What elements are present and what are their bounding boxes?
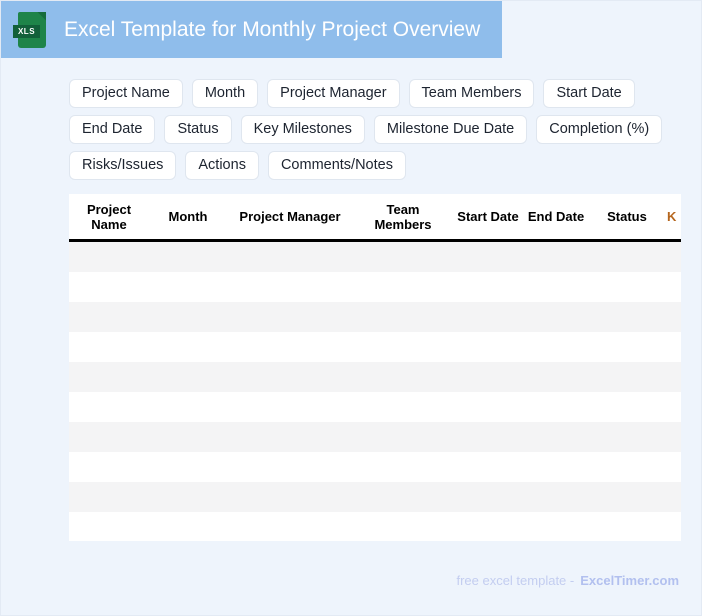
table-cell[interactable] [453, 392, 523, 422]
table-cell[interactable] [69, 302, 149, 332]
table-row[interactable] [69, 512, 681, 541]
table-cell[interactable] [149, 452, 227, 482]
table-cell[interactable] [523, 362, 589, 392]
table-row[interactable] [69, 272, 681, 302]
field-tag[interactable]: Start Date [543, 79, 634, 108]
table-cell[interactable] [353, 241, 453, 273]
field-tag[interactable]: Project Manager [267, 79, 399, 108]
table-cell[interactable] [523, 241, 589, 273]
footer-attribution: free excel template -ExcelTimer.com [456, 573, 679, 588]
table-cell[interactable] [69, 512, 149, 541]
table-cell[interactable] [149, 392, 227, 422]
table-cell[interactable] [149, 512, 227, 541]
table-cell[interactable] [589, 332, 665, 362]
table-cell[interactable] [227, 512, 353, 541]
table-row[interactable] [69, 482, 681, 512]
footer-brand-link[interactable]: ExcelTimer.com [580, 573, 679, 588]
table-cell[interactable] [453, 362, 523, 392]
table-cell[interactable] [149, 332, 227, 362]
table-cell[interactable] [353, 272, 453, 302]
table-cell[interactable] [589, 272, 665, 302]
table-cell[interactable] [665, 332, 681, 362]
page-root: { "header": { "title": "Excel Template f… [0, 0, 702, 616]
table-cell[interactable] [69, 452, 149, 482]
table-column-header[interactable]: Team Members [353, 194, 453, 241]
table-cell[interactable] [149, 362, 227, 392]
footer-lead-text: free excel template - [456, 573, 574, 588]
table-cell[interactable] [523, 332, 589, 362]
table-cell[interactable] [353, 422, 453, 452]
xls-file-icon: XLS [18, 12, 46, 48]
field-tag-list: Project NameMonthProject ManagerTeam Mem… [69, 79, 669, 180]
table-cell[interactable] [589, 302, 665, 332]
table-cell[interactable] [453, 272, 523, 302]
table-header: Project NameMonthProject ManagerTeam Mem… [69, 194, 681, 241]
table-cell[interactable] [665, 452, 681, 482]
table-header-row: Project NameMonthProject ManagerTeam Mem… [69, 194, 681, 241]
table-cell[interactable] [353, 512, 453, 541]
table-cell[interactable] [589, 422, 665, 452]
table-column-header[interactable]: Status [589, 194, 665, 241]
table-cell[interactable] [523, 482, 589, 512]
table-cell[interactable] [523, 392, 589, 422]
table-row[interactable] [69, 241, 681, 273]
table-cell[interactable] [69, 362, 149, 392]
table-cell[interactable] [453, 241, 523, 273]
table-cell[interactable] [589, 362, 665, 392]
table-cell[interactable] [665, 392, 681, 422]
table-cell[interactable] [227, 362, 353, 392]
table-row[interactable] [69, 392, 681, 422]
field-tag[interactable]: Month [192, 79, 258, 108]
table-cell[interactable] [69, 482, 149, 512]
field-tag[interactable]: Milestone Due Date [374, 115, 527, 144]
table-cell[interactable] [589, 241, 665, 273]
table-cell[interactable] [665, 362, 681, 392]
table-cell[interactable] [227, 272, 353, 302]
table-cell[interactable] [523, 302, 589, 332]
table-column-header[interactable]: Project Name [69, 194, 149, 241]
table-cell[interactable] [353, 392, 453, 422]
field-tag[interactable]: Team Members [409, 79, 535, 108]
field-tag[interactable]: Comments/Notes [268, 151, 406, 180]
table-cell[interactable] [227, 241, 353, 273]
field-tag[interactable]: Risks/Issues [69, 151, 176, 180]
table-row[interactable] [69, 452, 681, 482]
field-tag[interactable]: Key Milestones [241, 115, 365, 144]
field-tag[interactable]: Status [164, 115, 231, 144]
xls-icon-label: XLS [13, 25, 40, 38]
app-header: XLS Excel Template for Monthly Project O… [1, 1, 502, 58]
table-cell[interactable] [69, 332, 149, 362]
field-tag[interactable]: Project Name [69, 79, 183, 108]
table-cell[interactable] [589, 482, 665, 512]
table-cell[interactable] [589, 512, 665, 541]
table-cell[interactable] [453, 422, 523, 452]
project-overview-table-wrap[interactable]: Project NameMonthProject ManagerTeam Mem… [69, 194, 681, 541]
table-cell[interactable] [453, 452, 523, 482]
table-cell[interactable] [227, 482, 353, 512]
table-row[interactable] [69, 302, 681, 332]
table-column-header[interactable]: Project Manager [227, 194, 353, 241]
table-cell[interactable] [69, 392, 149, 422]
table-cell[interactable] [665, 241, 681, 273]
table-cell[interactable] [665, 512, 681, 541]
table-cell[interactable] [69, 422, 149, 452]
table-cell[interactable] [227, 422, 353, 452]
table-cell[interactable] [353, 332, 453, 362]
table-cell[interactable] [149, 241, 227, 273]
page-title: Excel Template for Monthly Project Overv… [64, 17, 480, 43]
table-cell[interactable] [523, 422, 589, 452]
table-body [69, 241, 681, 542]
project-overview-table: Project NameMonthProject ManagerTeam Mem… [69, 194, 681, 541]
table-cell[interactable] [453, 332, 523, 362]
table-cell[interactable] [149, 482, 227, 512]
table-cell[interactable] [665, 422, 681, 452]
table-cell[interactable] [69, 241, 149, 273]
field-tag[interactable]: End Date [69, 115, 155, 144]
table-cell[interactable] [227, 332, 353, 362]
table-cell[interactable] [665, 482, 681, 512]
table-cell[interactable] [665, 272, 681, 302]
table-cell[interactable] [589, 392, 665, 422]
table-cell[interactable] [149, 272, 227, 302]
table-cell[interactable] [353, 452, 453, 482]
table-cell[interactable] [149, 302, 227, 332]
table-cell[interactable] [227, 302, 353, 332]
table-cell[interactable] [227, 452, 353, 482]
table-row[interactable] [69, 422, 681, 452]
table-cell[interactable] [353, 362, 453, 392]
table-cell[interactable] [353, 302, 453, 332]
table-column-header[interactable]: End Date [523, 194, 589, 241]
table-column-header[interactable]: Month [149, 194, 227, 241]
table-cell[interactable] [523, 512, 589, 541]
table-cell[interactable] [353, 482, 453, 512]
table-cell[interactable] [523, 452, 589, 482]
field-tag[interactable]: Actions [185, 151, 259, 180]
table-column-header[interactable]: K [665, 194, 681, 241]
table-cell[interactable] [665, 302, 681, 332]
table-cell[interactable] [453, 482, 523, 512]
table-cell[interactable] [149, 422, 227, 452]
table-row[interactable] [69, 332, 681, 362]
field-tag[interactable]: Completion (%) [536, 115, 662, 144]
table-cell[interactable] [589, 452, 665, 482]
table-cell[interactable] [453, 302, 523, 332]
table-row[interactable] [69, 362, 681, 392]
table-cell[interactable] [69, 272, 149, 302]
table-column-header[interactable]: Start Date [453, 194, 523, 241]
table-cell[interactable] [453, 512, 523, 541]
table-cell[interactable] [523, 272, 589, 302]
table-cell[interactable] [227, 392, 353, 422]
